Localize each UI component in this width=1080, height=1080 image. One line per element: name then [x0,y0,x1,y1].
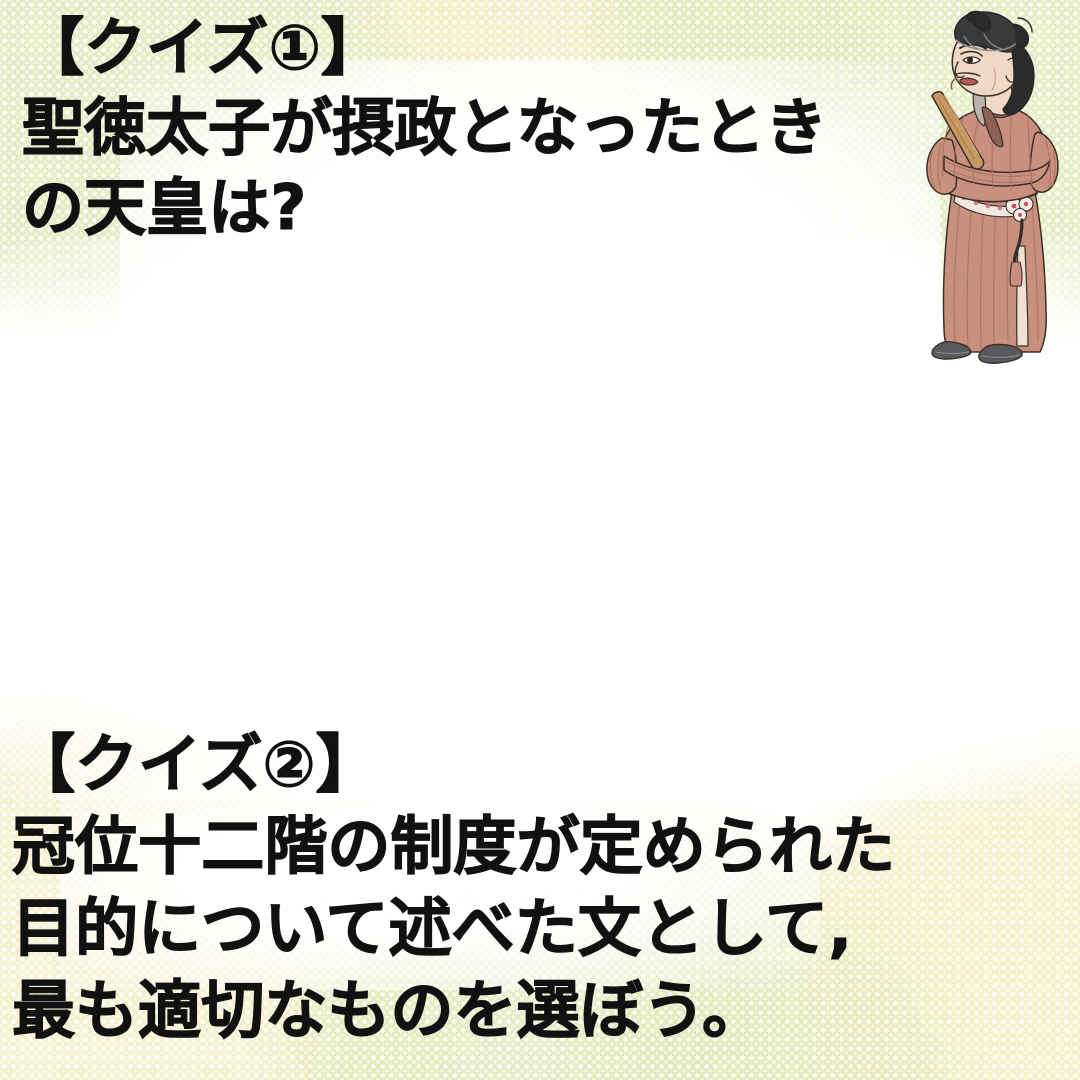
center-white-wash [0,240,1080,800]
quiz-one-line-2: の天皇は? [22,168,827,248]
quiz-two-block: 【クイズ②】 冠位十二階の制度が定められた 目的について述べた文として, 最も適… [12,724,895,1052]
quiz-one-block: 【クイズ①】 聖徳太子が摂政となったとき の天皇は? [22,8,827,248]
prince-shotoku-illustration [922,10,1078,370]
quiz-one-heading: 【クイズ①】 [22,8,827,88]
quiz-two-line-3: 最も適切なものを選ぼう。 [12,970,895,1052]
quiz-slide: 【クイズ①】 聖徳太子が摂政となったとき の天皇は? 【クイズ②】 冠位十二階の… [0,0,1080,1080]
quiz-two-heading: 【クイズ②】 [12,724,895,806]
quiz-two-line-1: 冠位十二階の制度が定められた [12,806,895,888]
quiz-one-line-1: 聖徳太子が摂政となったとき [22,88,827,168]
quiz-two-line-2: 目的について述べた文として, [12,888,895,970]
